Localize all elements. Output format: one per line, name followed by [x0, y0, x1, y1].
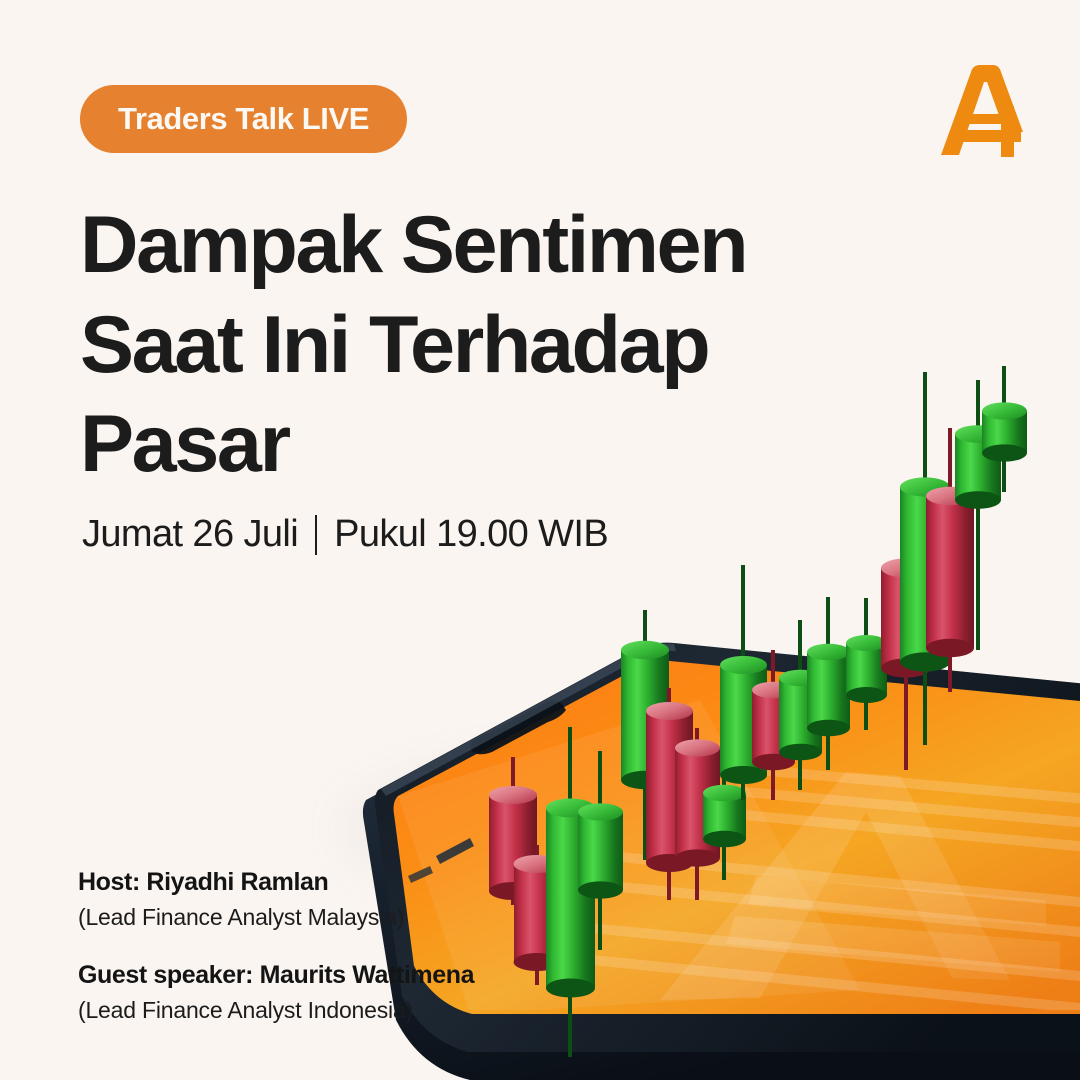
guest-role: (Lead Finance Analyst Indonesia) — [78, 995, 474, 1026]
schedule-separator — [315, 515, 317, 555]
guest-name: Guest speaker: Maurits Wattimena — [78, 959, 474, 992]
traders-talk-live-badge[interactable]: Traders Talk LIVE — [80, 85, 407, 153]
poster-canvas: Traders Talk LIVE Dampak Sentimen Saat I… — [0, 0, 1080, 1080]
host-credit: Host: Riyadhi Ramlan (Lead Finance Analy… — [78, 866, 474, 933]
headline-line-2: Saat Ini Terhadap — [80, 296, 840, 396]
candle-13-green — [846, 598, 887, 730]
page-title: Dampak Sentimen Saat Ini Terhadap Pasar — [80, 196, 840, 495]
octa-a-logo-icon — [939, 62, 1025, 157]
schedule-date: Jumat 26 Juli — [82, 513, 298, 556]
headline-line-1: Dampak Sentimen — [80, 196, 840, 296]
schedule-line: Jumat 26 Juli Pukul 19.00 WIB — [82, 513, 608, 556]
host-role: (Lead Finance Analyst Malaysia) — [78, 902, 474, 933]
host-name: Host: Riyadhi Ramlan — [78, 866, 474, 899]
schedule-time: Pukul 19.00 WIB — [334, 513, 608, 556]
guest-credit: Guest speaker: Maurits Wattimena (Lead F… — [78, 959, 474, 1026]
credits-block: Host: Riyadhi Ramlan (Lead Finance Analy… — [78, 866, 474, 1026]
headline-line-3: Pasar — [80, 395, 840, 495]
